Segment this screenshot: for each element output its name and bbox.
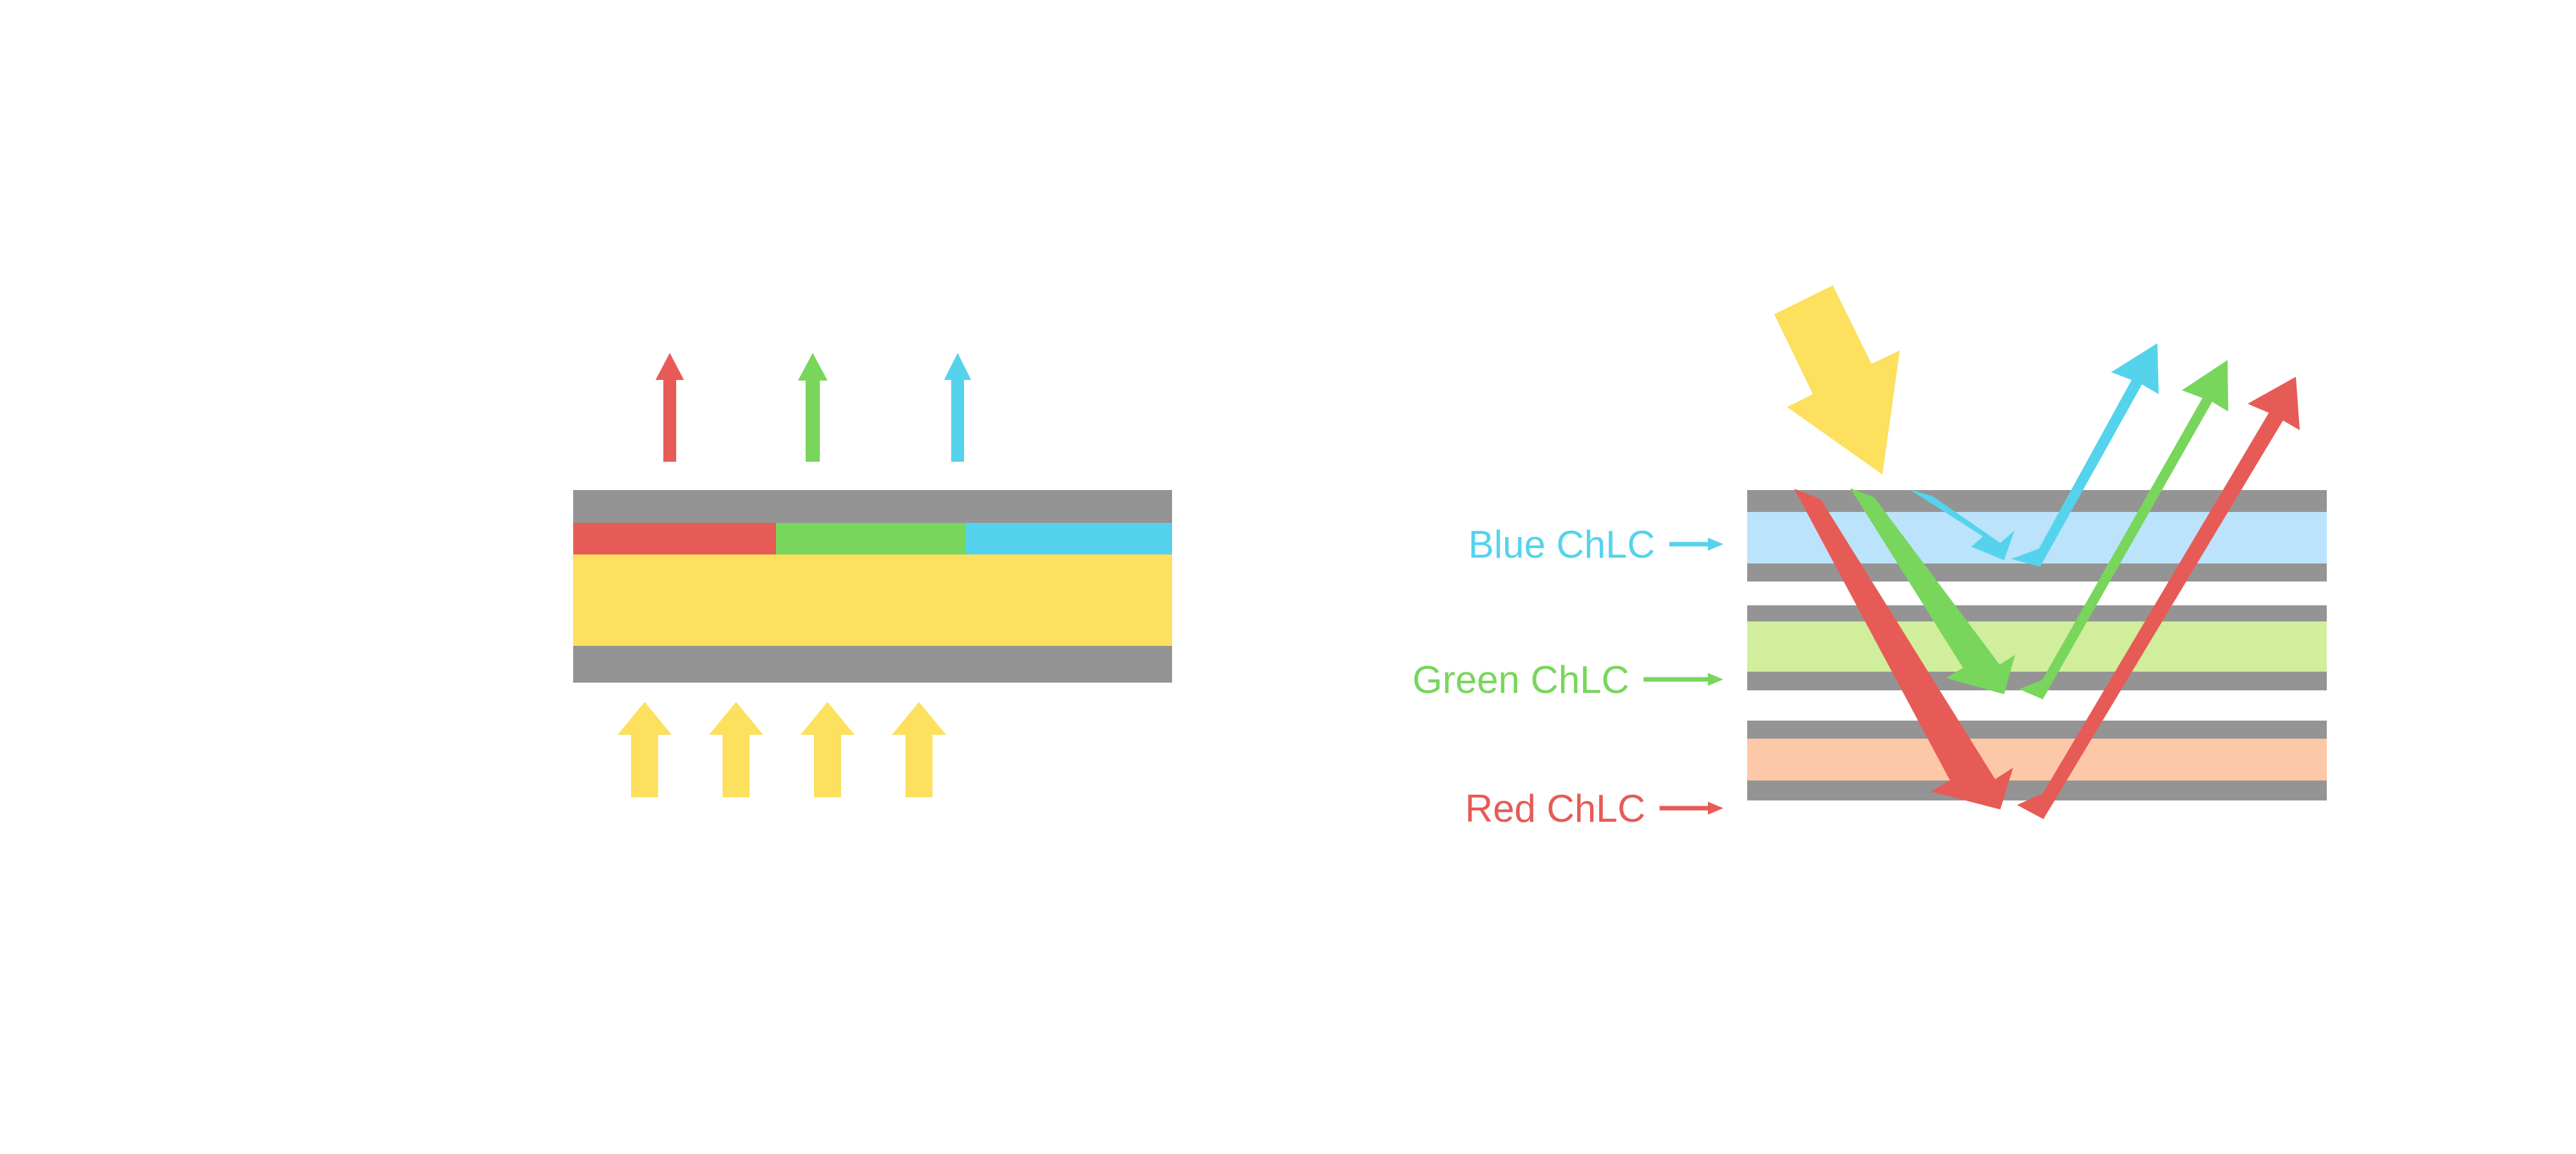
red-chlc-label-text: Red ChLC [1465,787,1645,830]
green-chlc-pointer-arrow-icon [1643,673,1723,686]
right-panel-labels: Blue ChLC Green ChLC Red ChLC [0,0,2576,1154]
blue-chlc-label-text: Blue ChLC [1468,523,1655,566]
diagram-canvas: Blue ChLC Green ChLC Red ChLC [0,0,2576,1154]
blue-chlc-pointer-arrow-icon [1669,538,1723,551]
red-chlc-pointer-arrow-icon [1660,802,1723,815]
green-chlc-label-text: Green ChLC [1412,658,1629,701]
